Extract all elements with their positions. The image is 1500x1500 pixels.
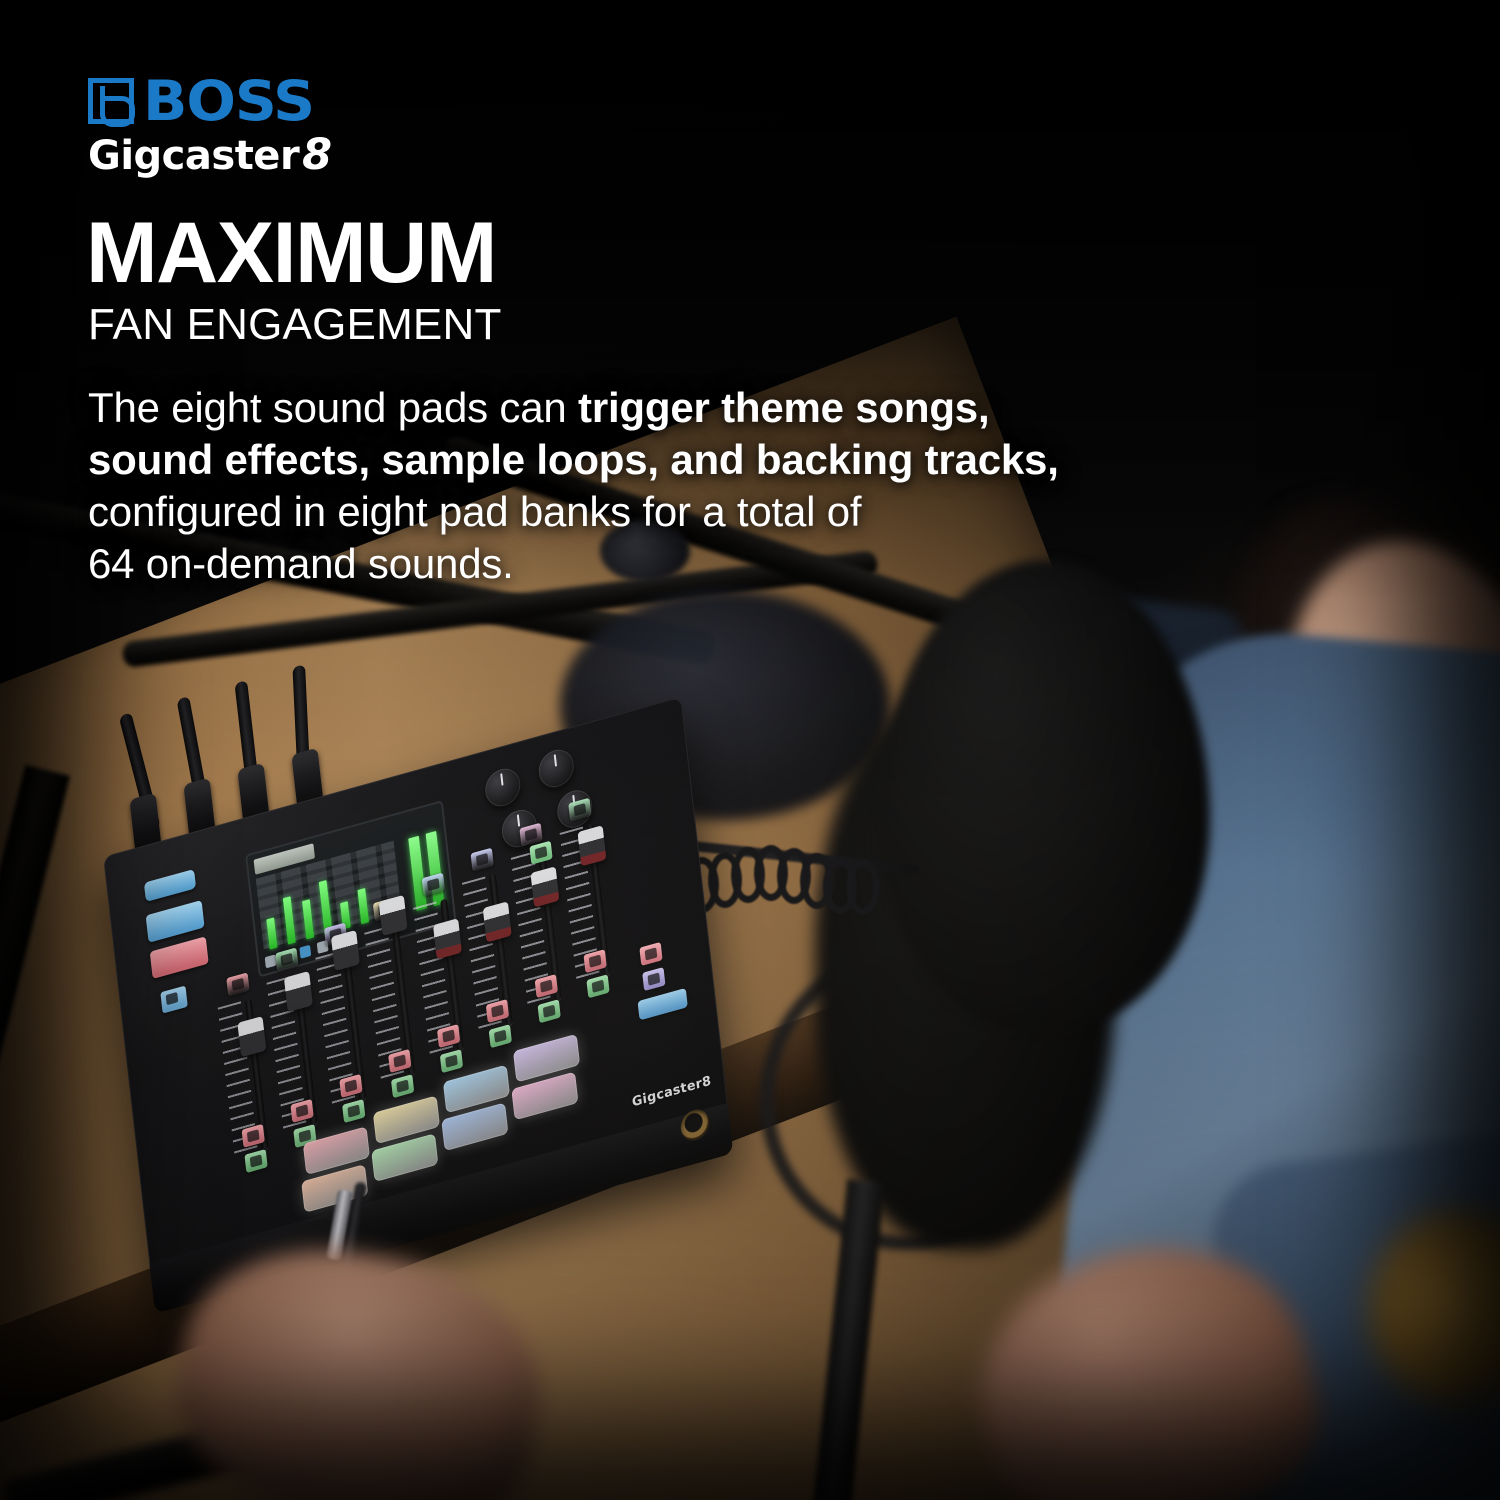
gigcaster-number: 8 (302, 130, 331, 180)
marketing-image: Gigcaster8 BOSS Gigcaster8 MAXIMUM FAN E… (0, 0, 1500, 1500)
brand-lockup: BOSS Gigcaster8 (88, 76, 332, 177)
boss-b-square-icon (88, 78, 134, 124)
body-line-1-bold: trigger theme songs, (578, 384, 989, 431)
page-subtitle: FAN ENGAGEMENT (88, 302, 502, 348)
body-line-2: sound effects, sample loops, and backing… (88, 434, 1148, 486)
boss-wordmark: BOSS (143, 76, 314, 127)
gigcaster-wordmark: Gigcaster8 (88, 134, 332, 177)
body-line-4: 64 on-demand sounds. (88, 538, 1148, 590)
body-line-3: configured in eight pad banks for a tota… (88, 486, 1148, 538)
body-line-2-bold: sound effects, sample loops, and backing… (88, 436, 1059, 483)
body-copy: The eight sound pads can trigger theme s… (88, 382, 1148, 590)
boss-logo: BOSS (88, 76, 332, 127)
text-overlay: BOSS Gigcaster8 MAXIMUM FAN ENGAGEMENT T… (0, 0, 1500, 1500)
gigcaster-name: Gigcaster (88, 133, 299, 179)
body-line-1: The eight sound pads can trigger theme s… (88, 382, 1148, 434)
page-title: MAXIMUM (86, 212, 496, 295)
body-line-1-plain: The eight sound pads can (88, 384, 578, 431)
